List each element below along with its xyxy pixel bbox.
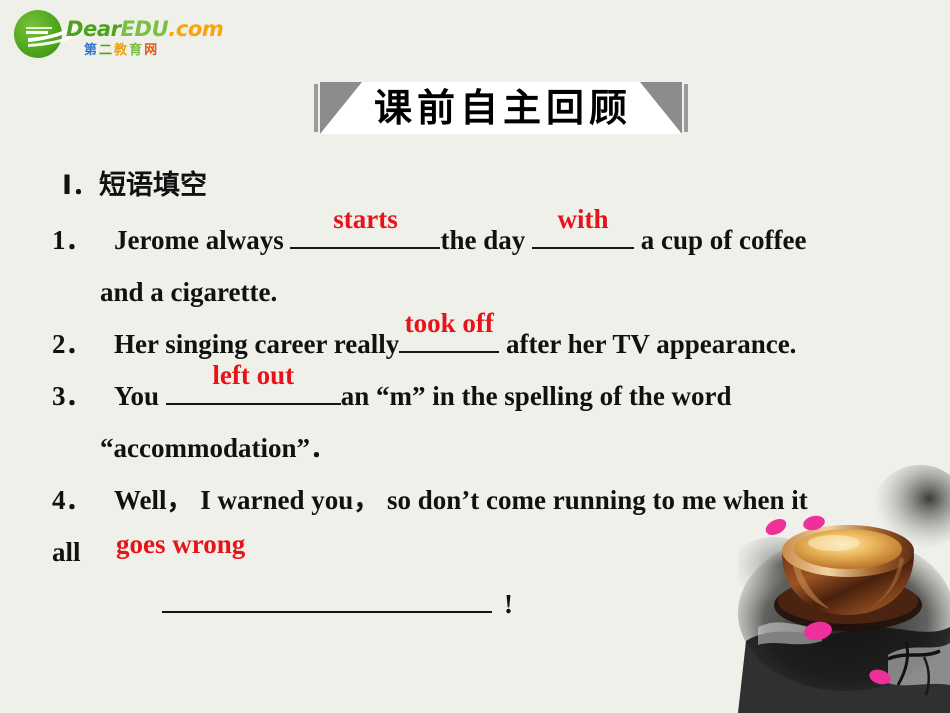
slide-title-banner: 课前自主回顾 <box>312 82 690 134</box>
question-1-blank-1[interactable]: starts <box>290 217 440 249</box>
question-2-blank-1[interactable]: took off <box>399 321 499 353</box>
question-1-blank-2[interactable]: with <box>532 217 634 249</box>
question-4-line-3: ! <box>52 578 932 630</box>
title-right-triangle-icon <box>640 82 682 134</box>
question-1-answer-1: starts <box>290 193 440 245</box>
logo-brand-com: .com <box>168 17 223 41</box>
branch-stroke-2 <box>898 641 908 685</box>
question-1-line-1: 1．Jerome always startsthe day with a cup… <box>52 214 932 266</box>
question-4-blank-1[interactable] <box>162 581 492 613</box>
logo-cn-char-3: 教 <box>114 43 129 58</box>
question-3-line-2: “accommodation”． <box>52 422 932 474</box>
title-right-bar <box>684 84 688 132</box>
dearedu-logo: DearEDU.com 第二教育网 <box>8 8 198 58</box>
branch-stroke-3 <box>924 657 929 695</box>
question-3-number: 3． <box>52 370 114 422</box>
logo-brand-dear: Dear <box>66 17 121 41</box>
petal-4 <box>867 667 892 687</box>
logo-cn-char-1: 第 <box>84 43 99 58</box>
question-4-text-a: Well， I warned you， so don’t come runnin… <box>114 485 808 515</box>
question-1-text-d: and a cigarette. <box>100 277 277 307</box>
question-1-answer-2: with <box>532 193 634 245</box>
question-1-text-b: the day <box>440 225 532 255</box>
question-1-text-a: Jerome always <box>114 225 290 255</box>
slide-canvas: DearEDU.com 第二教育网 课前自主回顾 Ⅰ．短语填空 1．Jerome… <box>0 0 950 713</box>
branch-stroke-1 <box>888 651 940 659</box>
question-2-number: 2． <box>52 318 114 370</box>
question-2-answer-1: took off <box>399 297 499 349</box>
question-4-line-2: allgoes wrong <box>52 526 932 578</box>
logo-cn-char-4: 育 <box>129 43 144 58</box>
question-3-line-1: 3．You left outan “m” in the spelling of … <box>52 370 932 422</box>
question-4-text-b: all <box>52 526 81 578</box>
title-left-bar <box>314 84 318 132</box>
question-4-exclamation: ! <box>504 589 513 619</box>
question-1-text-c: a cup of coffee <box>634 225 806 255</box>
question-4-answer-1: goes wrong <box>116 518 245 570</box>
logo-brand-text: DearEDU.com <box>66 17 223 41</box>
section-heading: Ⅰ．短语填空 <box>62 163 207 202</box>
question-3-answer-1: left out <box>166 349 341 401</box>
question-3-blank-1[interactable]: left out <box>166 373 341 405</box>
question-3-text-c: “accommodation”． <box>100 433 337 463</box>
page-title: 课前自主回顾 <box>362 82 640 134</box>
question-3-text-b: an “m” in the spelling of the word <box>341 381 732 411</box>
question-3-text-a: You <box>114 381 166 411</box>
ink-highlight-lower-right <box>888 643 950 685</box>
questions-list: 1．Jerome always startsthe day with a cup… <box>52 214 932 630</box>
ink-wash-bottom <box>738 627 950 713</box>
logo-cn-char-2: 二 <box>99 43 114 58</box>
question-1-number: 1． <box>52 214 114 266</box>
question-4-number: 4． <box>52 474 114 526</box>
logo-chinese-text: 第二教育网 <box>84 39 159 58</box>
question-2-text-b: after her TV appearance. <box>499 329 796 359</box>
title-left-triangle-icon <box>320 82 362 134</box>
logo-cn-char-5: 网 <box>144 43 159 58</box>
logo-brand-edu: EDU <box>121 17 169 41</box>
